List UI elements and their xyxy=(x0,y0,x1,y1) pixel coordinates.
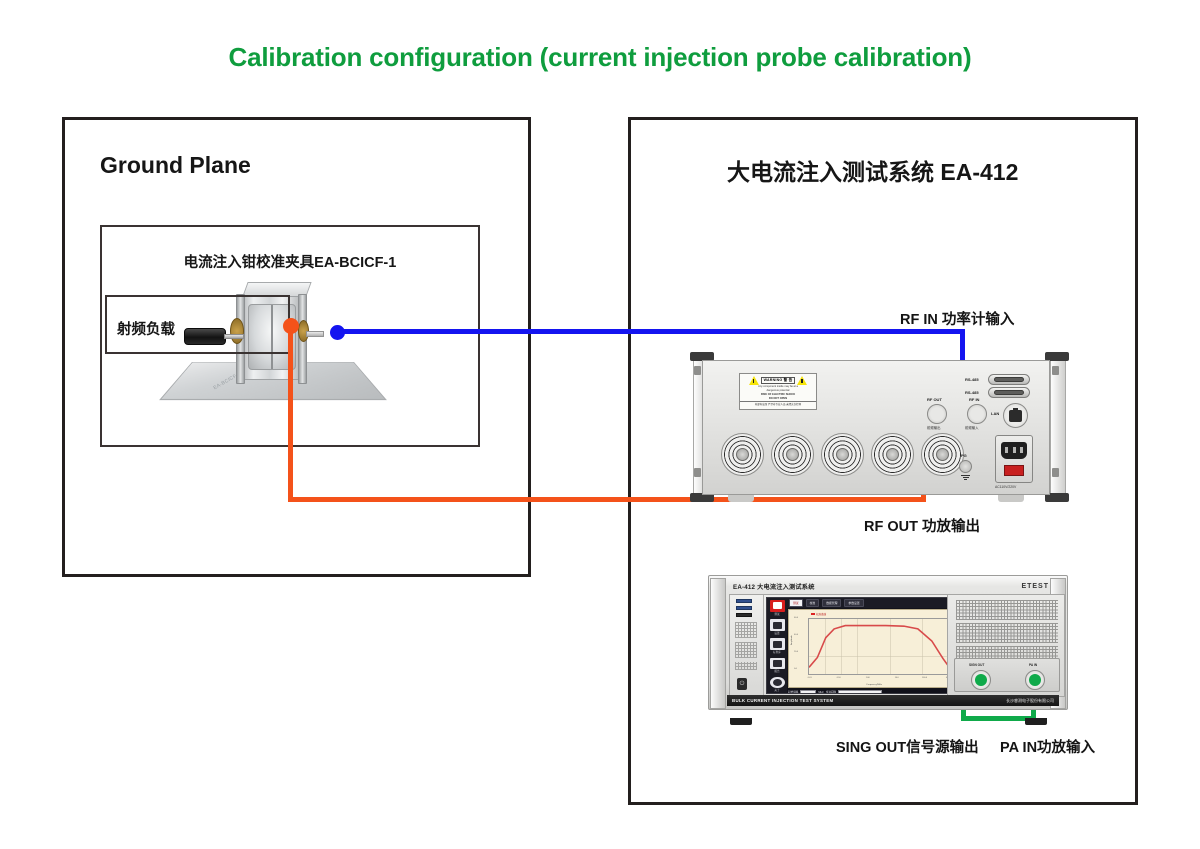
field-input[interactable] xyxy=(838,690,882,694)
y-tick-3: 0.0 xyxy=(794,668,797,670)
tab-parameters[interactable]: 参数设置 xyxy=(844,599,863,607)
warning-top-row: WARNING 警 告 xyxy=(740,374,816,385)
screen-nav-rail: 测试 设置 标准库 报告 关于 xyxy=(767,598,787,693)
iec-pin-3 xyxy=(1020,447,1023,453)
pa-in-label: PA IN功放输入 xyxy=(1000,736,1095,757)
rf-out-connector[interactable] xyxy=(927,404,947,424)
fan-hub-4 xyxy=(886,448,899,461)
plot-grid xyxy=(808,618,950,675)
pa-in-connector[interactable] xyxy=(1025,670,1045,690)
rf-out-port-label: RF OUT xyxy=(927,397,942,402)
rf-out-port-sublabel: 射频输出 xyxy=(927,425,941,430)
warning-line-2: dangerous potential xyxy=(740,389,816,393)
front-model-label: EA-412 大电流注入测试系统 xyxy=(733,582,815,591)
rf-in-port-sublabel: 射频输入 xyxy=(965,425,979,430)
info-icon xyxy=(773,679,782,686)
rear-panel-amplifier: WARNING 警 告 Any component inside may be … xyxy=(688,352,1071,504)
x-tick-4: 100.0 xyxy=(922,677,927,679)
hdmi-port[interactable] xyxy=(736,613,752,617)
front-foot-left xyxy=(730,718,752,725)
front-bottom-bar: BULK CURRENT INJECTION TEST SYSTEM 长沙睿测电… xyxy=(727,695,1059,706)
cooling-fan-4 xyxy=(871,433,914,476)
field-unit: MHz xyxy=(818,691,823,694)
nav-item-test[interactable] xyxy=(770,600,785,612)
front-foot-right xyxy=(1025,718,1047,725)
nav-item-settings[interactable] xyxy=(770,619,785,631)
plot-xlabel: Frequency/MHz xyxy=(789,684,960,686)
company-name-cn: 长沙睿测电子股份有限公司 xyxy=(1006,698,1054,704)
power-button[interactable]: ⏻ xyxy=(737,678,747,690)
rf-in-connector[interactable] xyxy=(967,404,987,424)
fixture-caption: 电流注入钳校准夹具EA-BCICF-1 xyxy=(100,251,480,272)
cooling-fan-5 xyxy=(921,433,964,476)
rf-in-port-label: RF IN xyxy=(969,397,979,402)
tab-data-management[interactable]: 数据管理 xyxy=(822,599,841,607)
field-label: 步进间隔 xyxy=(826,690,836,694)
rf-in-label: RF IN 功率计输入 xyxy=(900,308,1014,329)
rack-screw-bl xyxy=(694,468,701,477)
rack-screw-tl xyxy=(694,366,701,375)
orange-cable-vertical-left xyxy=(288,326,293,502)
sign-out-port-label: SIGN OUT xyxy=(969,663,984,667)
iec-socket-icon xyxy=(1001,442,1027,459)
nav-label-about: 关于 xyxy=(774,690,779,693)
hazard-triangle-icon-right xyxy=(797,376,807,385)
front-vent-1 xyxy=(735,622,757,638)
pg-label: PG xyxy=(961,453,967,458)
chassis-foot-left xyxy=(728,495,754,502)
hazard-triangle-icon-left xyxy=(749,376,759,385)
nav-item-standards[interactable] xyxy=(770,638,785,650)
x-tick-3: 10.0 xyxy=(895,677,899,679)
x-tick-0: 0.01 xyxy=(808,677,812,679)
warning-word: WARNING 警 告 xyxy=(761,377,796,384)
warning-line-4: DO NOT OPEN xyxy=(740,397,816,401)
nav-label-settings: 设置 xyxy=(774,633,779,636)
rf-out-label: RF OUT 功放输出 xyxy=(864,515,980,536)
iec-pin-1 xyxy=(1005,447,1008,453)
speaker-grille-2 xyxy=(956,623,1058,643)
report-icon xyxy=(773,660,782,667)
blue-cable-horizontal xyxy=(337,329,965,334)
pa-in-core xyxy=(1029,674,1041,686)
library-icon xyxy=(773,641,782,648)
cooling-fan-1 xyxy=(721,433,764,476)
y-tick-0: 60.0 xyxy=(794,617,798,619)
sign-out-connector[interactable] xyxy=(971,670,991,690)
plot-legend: 校准曲线 xyxy=(811,612,826,616)
test-system-heading: 大电流注入测试系统 EA-412 xyxy=(727,153,1018,187)
rack-screw-br xyxy=(1052,468,1059,477)
y-tick-1: 40.0 xyxy=(794,634,798,636)
pa-in-port-label: PA IN xyxy=(1029,663,1037,667)
rj45-jack-icon xyxy=(1009,410,1022,422)
fan-hub-5 xyxy=(936,448,949,461)
fixture-output-stem xyxy=(306,331,324,337)
lan-rj45-port[interactable] xyxy=(1003,403,1028,428)
front-top-bar: EA-412 大电流注入测试系统 ETEST xyxy=(727,579,1057,593)
warning-label: WARNING 警 告 Any component inside may be … xyxy=(739,373,817,410)
rs485-upper-connector[interactable] xyxy=(988,374,1030,385)
earth-ground-icon xyxy=(961,474,970,481)
nav-item-about[interactable] xyxy=(770,677,785,689)
test-icon xyxy=(773,602,782,609)
usb-port-2[interactable] xyxy=(736,606,752,610)
front-vent-2 xyxy=(735,642,757,658)
rs485-upper-label: RS-485 xyxy=(965,377,979,382)
rs485-lower-connector[interactable] xyxy=(988,387,1030,398)
rs485-lower-label: RS-485 xyxy=(965,390,979,395)
sign-out-core xyxy=(975,674,987,686)
nav-label-standards: 标准库 xyxy=(773,652,781,655)
field-label: 起始频率 xyxy=(788,690,798,694)
sing-out-label: SING OUT信号源输出 xyxy=(836,736,979,757)
nav-item-report[interactable] xyxy=(770,658,785,670)
page-title: Calibration configuration (current injec… xyxy=(0,42,1200,73)
pg-ground-terminal[interactable] xyxy=(959,460,972,473)
lan-label: LAN xyxy=(991,411,999,416)
gear-icon xyxy=(773,622,782,629)
diagram-canvas: Calibration configuration (current injec… xyxy=(0,0,1200,849)
iec-pin-2 xyxy=(1013,447,1016,453)
system-name-en: BULK CURRENT INJECTION TEST SYSTEM xyxy=(732,698,833,703)
fan-hub-1 xyxy=(736,448,749,461)
plot-curve-svg xyxy=(809,619,949,674)
brand-logo: ETEST xyxy=(1019,583,1051,590)
chassis-foot-right xyxy=(998,495,1024,502)
speaker-grille-1 xyxy=(956,600,1058,620)
calibration-plot: 校准曲线 Amplitude Frequency/MHz 0.01 0.10 xyxy=(788,609,961,688)
x-tick-1: 0.10 xyxy=(837,677,841,679)
fan-hub-2 xyxy=(786,448,799,461)
rf-load-label: 射频负载 xyxy=(117,318,175,339)
ac-power-inlet[interactable] xyxy=(995,435,1033,483)
ground-plane-heading: Ground Plane xyxy=(100,152,251,179)
front-rail-left xyxy=(710,578,726,709)
x-tick-2: 1.00 xyxy=(866,677,870,679)
tab-test[interactable]: 测试 xyxy=(789,599,803,607)
usb-port-1[interactable] xyxy=(736,599,752,603)
front-connector-plate: SIGN OUT PA IN xyxy=(954,658,1060,692)
front-right-column: SIGN OUT PA IN xyxy=(947,594,1065,697)
rack-screw-tr xyxy=(1052,366,1059,375)
cooling-fan-2 xyxy=(771,433,814,476)
y-tick-2: 20.0 xyxy=(794,651,798,653)
field-input[interactable] xyxy=(800,690,816,694)
nav-label-test: 测试 xyxy=(774,614,779,617)
rs485-upper-pins xyxy=(994,377,1024,382)
front-left-column: ⏻ xyxy=(730,595,764,696)
tab-calibration[interactable]: 校准 xyxy=(806,599,820,607)
rear-chassis: WARNING 警 告 Any component inside may be … xyxy=(702,360,1050,495)
warning-bar: 内部有高压 严禁非专业人员 未经允许打开 xyxy=(740,401,816,406)
ac-rating-label: AC110V/220V xyxy=(995,485,1016,489)
front-panel-instrument: EA-412 大电流注入测试系统 ETEST ⏻ xyxy=(700,565,1080,725)
front-vent-3 xyxy=(735,662,757,670)
power-fuse-switch[interactable] xyxy=(1004,465,1024,476)
plot-ylabel: Amplitude xyxy=(791,635,793,645)
cooling-fan-3 xyxy=(821,433,864,476)
nav-label-report: 报告 xyxy=(774,671,779,674)
fan-hub-3 xyxy=(836,448,849,461)
rs485-lower-pins xyxy=(994,390,1024,395)
front-chassis: EA-412 大电流注入测试系统 ETEST ⏻ xyxy=(708,575,1068,710)
